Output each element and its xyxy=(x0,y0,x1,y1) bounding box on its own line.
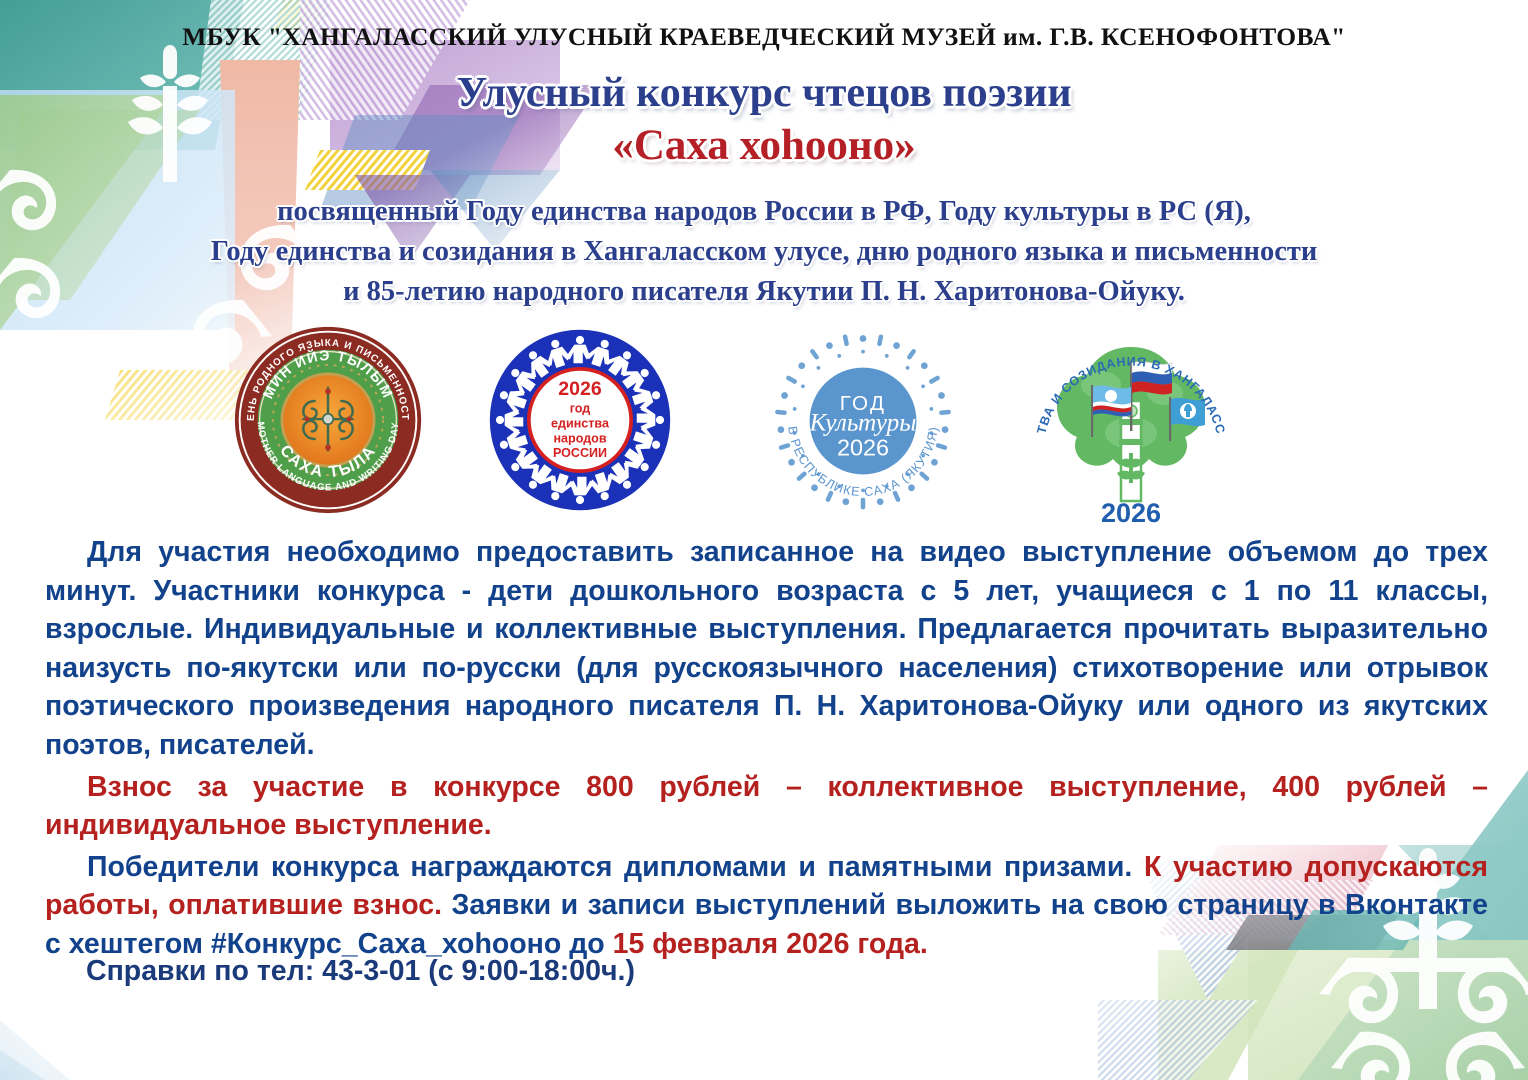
mother-language-day-logo: ДЕНЬ РОДНОГО ЯЗЫКА И ПИСЬМЕННОСТИ MOTHER… xyxy=(233,325,423,515)
logo4-year: 2026 xyxy=(1101,498,1161,528)
contest-title-line2: «Саха хоһооно» xyxy=(0,120,1528,172)
dedication-line-3: и 85-летию народного писателя Якутии П. … xyxy=(60,272,1468,312)
contest-title-line1: Улусный конкурс чтецов поэзии xyxy=(0,70,1528,118)
dedication-line-2: Году единства и созидания в Хангаласском… xyxy=(60,232,1468,272)
year-of-unity-logo: 2026 год единства народов РОССИИ xyxy=(487,327,673,513)
contact-phone-line: Справки по тел: 43-3-01 (с 9:00-18:00ч.) xyxy=(86,955,635,988)
flag-sakha xyxy=(1093,386,1131,417)
poster-title-block: Улусный конкурс чтецов поэзии «Саха хоһо… xyxy=(0,70,1528,171)
deadline-text: 15 февраля 2026 года. xyxy=(613,928,928,960)
logo3-line2: Культуры xyxy=(809,408,917,436)
dedication-line-1: посвященный Году единства народов России… xyxy=(60,192,1468,232)
logo2-year: 2026 xyxy=(558,378,602,400)
announcement-body: Для участия необходимо предоставить запи… xyxy=(45,533,1488,964)
paragraph-requirements: Для участия необходимо предоставить запи… xyxy=(45,533,1488,765)
paragraph-awards: Победители конкурса награждаются диплома… xyxy=(45,848,1488,964)
logo2-line3: единства xyxy=(551,416,610,430)
dedication-block: посвященный Году единства народов России… xyxy=(60,192,1468,312)
khangalassky-unity-logo: ГОД ЕДИНСТВА И СОЗИДАНИЯ В ХАНГАЛАССКОМ … xyxy=(1023,323,1239,528)
paragraph-fee: Взнос за участие в конкурсе 800 рублей –… xyxy=(45,768,1488,845)
emblem-row: ДЕНЬ РОДНОГО ЯЗЫКА И ПИСЬМЕННОСТИ MOTHER… xyxy=(0,325,1528,525)
museum-name-header: МБУК "ХАНГАЛАССКИЙ УЛУСНЫЙ КРАЕВЕДЧЕСКИЙ… xyxy=(0,22,1528,52)
poster-canvas: МБУК "ХАНГАЛАССКИЙ УЛУСНЫЙ КРАЕВЕДЧЕСКИЙ… xyxy=(0,0,1528,1080)
logo2-line5: РОССИИ xyxy=(553,446,607,460)
logo3-line3: 2026 xyxy=(837,435,889,461)
year-of-culture-logo: ГОД Культуры 2026 В РЕСПУБЛИКЕ САХА (ЯКУ… xyxy=(769,331,957,511)
logo2-line4: народов xyxy=(553,431,606,445)
logo2-line2: год xyxy=(570,402,591,416)
awards-text-blue-1: Победители конкурса награждаются диплома… xyxy=(87,851,1144,883)
